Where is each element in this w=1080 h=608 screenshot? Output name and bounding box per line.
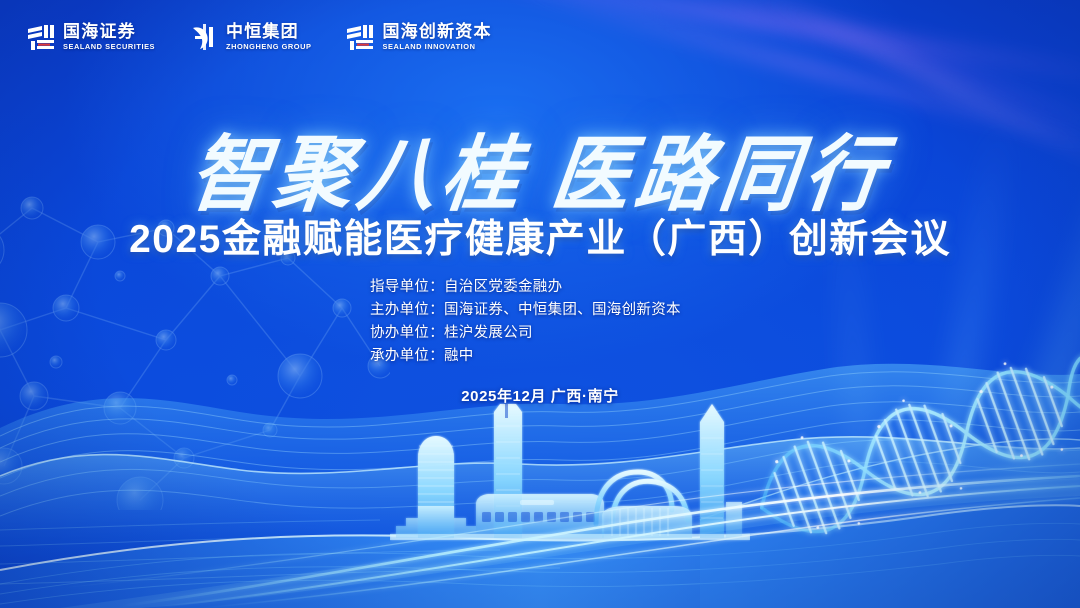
organizer-row: 协办单位： 桂沪发展公司 <box>370 323 710 344</box>
organizer-value: 融中 <box>444 346 474 367</box>
subtitle-line: 2025金融赋能医疗健康产业（广西）创新会议 <box>0 208 1080 264</box>
logo-name-cn: 国海证券 <box>63 23 155 40</box>
organizer-label: 协办单位： <box>370 323 444 344</box>
datetime-text: 2025年12月 广西·南宁 <box>461 388 619 405</box>
subtitle-text: 2025金融赋能医疗健康产业（广西）创新会议 <box>129 208 951 264</box>
sponsor-logo-bar: 国海证券 SEALAND SECURITIES 中恒集团 ZHONGHENG G… <box>26 22 492 52</box>
sealand-geometric-mark-icon <box>345 22 375 52</box>
event-datetime-location: 2025年12月 广西·南宁 <box>0 385 1080 406</box>
zhongheng-mark-icon <box>189 22 219 52</box>
logo-name-cn: 中恒集团 <box>226 23 311 40</box>
logo-zhongheng-group[interactable]: 中恒集团 ZHONGHENG GROUP <box>189 22 311 52</box>
logo-name-en: ZHONGHENG GROUP <box>226 43 311 50</box>
logo-sealand-innovation[interactable]: 国海创新资本 SEALAND INNOVATION <box>345 22 491 52</box>
organizer-list: 指导单位： 自治区党委金融办 主办单位： 国海证券、中恒集团、国海创新资本 协办… <box>0 277 1080 367</box>
organizer-label: 指导单位： <box>370 277 444 298</box>
conference-poster: 国海证券 SEALAND SECURITIES 中恒集团 ZHONGHENG G… <box>0 0 1080 608</box>
sealand-geometric-mark-icon <box>26 22 56 52</box>
organizer-label: 主办单位： <box>370 300 444 321</box>
organizer-row: 主办单位： 国海证券、中恒集团、国海创新资本 <box>370 300 710 321</box>
organizer-value: 自治区党委金融办 <box>444 277 562 298</box>
organizer-label: 承办单位： <box>370 346 444 367</box>
organizer-row: 指导单位： 自治区党委金融办 <box>370 277 710 298</box>
organizer-row: 承办单位： 融中 <box>370 346 710 367</box>
organizer-value: 国海证券、中恒集团、国海创新资本 <box>444 300 681 321</box>
logo-sealand-securities[interactable]: 国海证券 SEALAND SECURITIES <box>26 22 155 52</box>
logo-name-en: SEALAND SECURITIES <box>63 43 155 50</box>
organizer-value: 桂沪发展公司 <box>444 323 533 344</box>
logo-name-cn: 国海创新资本 <box>382 23 491 40</box>
logo-name-en: SEALAND INNOVATION <box>382 43 491 50</box>
